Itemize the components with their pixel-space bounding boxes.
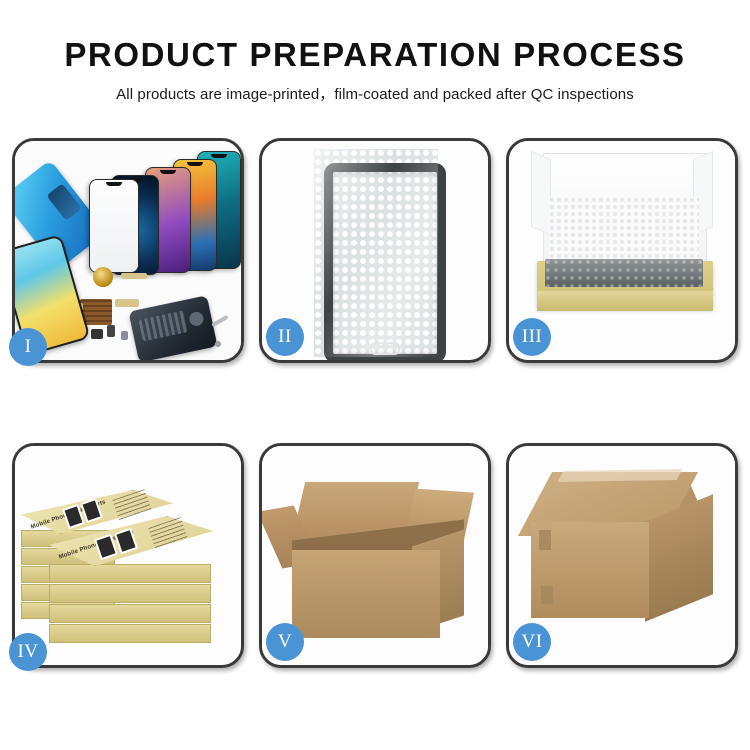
process-step-panel-5[interactable]: V xyxy=(259,443,491,668)
panel-1-image xyxy=(15,141,241,360)
step-badge-3: III xyxy=(513,318,551,356)
packing-tape-icon xyxy=(558,469,683,482)
page-subtitle: All products are image-printed，film-coat… xyxy=(0,83,750,104)
process-step-panel-2[interactable]: II xyxy=(259,138,491,363)
process-step-panel-3[interactable]: III xyxy=(506,138,738,363)
step-badge-6: VI xyxy=(513,623,551,661)
step-badge-4: IV xyxy=(9,633,47,671)
kraft-box-stack-icon: Mobile Phone Spare Parts Mobile Phone Sp… xyxy=(19,472,241,652)
open-carton-icon xyxy=(292,550,440,638)
foam-padding-icon xyxy=(549,197,699,265)
process-step-panel-6[interactable]: VI xyxy=(506,443,738,668)
step-badge-5: V xyxy=(266,623,304,661)
page-header: PRODUCT PREPARATION PROCESS All products… xyxy=(0,0,750,104)
step-badge-1: I xyxy=(9,328,47,366)
panel-4-image: Mobile Phone Spare Parts Mobile Phone Sp… xyxy=(15,446,241,665)
page-title: PRODUCT PREPARATION PROCESS xyxy=(0,36,750,74)
wrapped-product-icon xyxy=(545,259,703,287)
process-step-panel-4[interactable]: Mobile Phone Spare Parts Mobile Phone Sp… xyxy=(12,443,244,668)
step-badge-2: II xyxy=(266,318,304,356)
process-step-grid: I II III xyxy=(12,138,738,668)
process-step-panel-1[interactable]: I xyxy=(12,138,244,363)
